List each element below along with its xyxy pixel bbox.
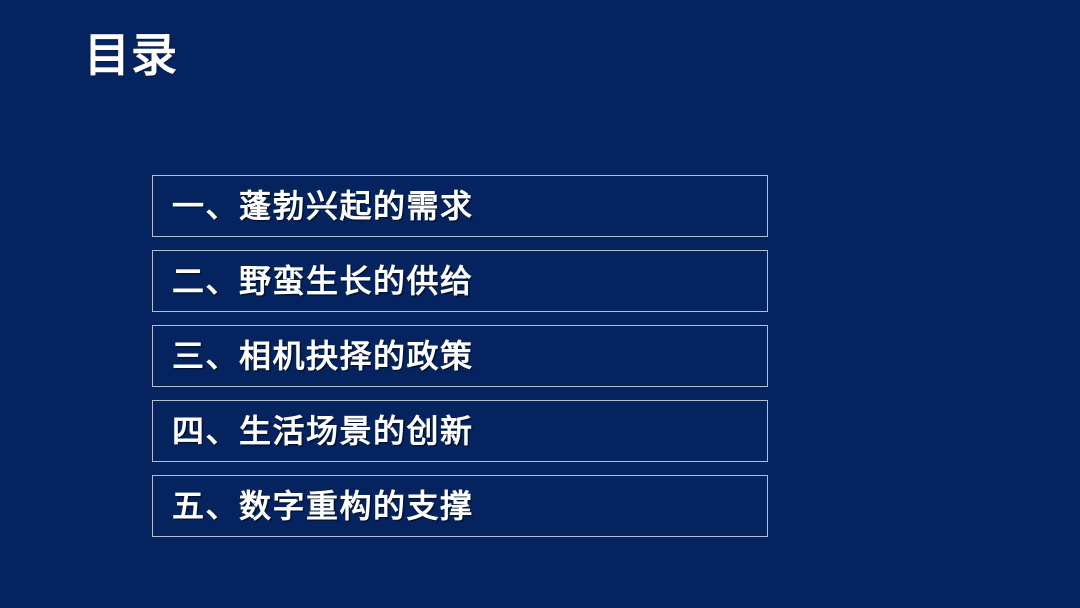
toc-item-2[interactable]: 二、野蛮生长的供给 [152,250,768,312]
toc-item-5[interactable]: 五、数字重构的支撑 [152,475,768,537]
toc-item-3[interactable]: 三、相机抉择的政策 [152,325,768,387]
toc-item-4[interactable]: 四、生活场景的创新 [152,400,768,462]
toc-item-label: 四、生活场景的创新 [172,415,474,447]
toc-item-label: 一、蓬勃兴起的需求 [172,190,474,222]
toc-item-label: 二、野蛮生长的供给 [172,265,474,297]
slide-canvas: 目录 一、蓬勃兴起的需求 二、野蛮生长的供给 三、相机抉择的政策 四、生活场景的… [0,0,1080,608]
toc-item-1[interactable]: 一、蓬勃兴起的需求 [152,175,768,237]
toc-item-label: 三、相机抉择的政策 [172,340,474,372]
toc-item-label: 五、数字重构的支撑 [172,490,474,522]
page-title: 目录 [84,28,178,83]
table-of-contents-list: 一、蓬勃兴起的需求 二、野蛮生长的供给 三、相机抉择的政策 四、生活场景的创新 … [152,175,768,537]
